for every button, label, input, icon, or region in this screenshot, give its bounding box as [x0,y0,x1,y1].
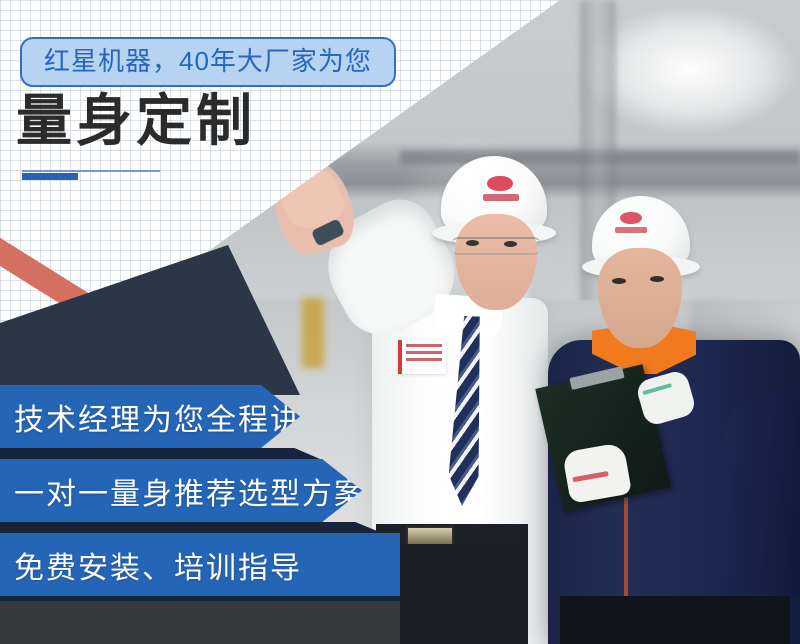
eye-right [504,241,517,247]
feature-bar-2: 一对一量身推荐选型方案 [0,459,362,522]
dark-trousers [560,596,790,644]
eye-right [650,276,664,282]
title-underline-thick [22,173,78,180]
hongxing-wordmark [615,227,647,233]
jacket-arm [713,389,800,595]
title-underline-thin [22,170,160,172]
hongxing-wordmark [483,194,519,201]
feature-bar-shadow-2 [0,522,382,533]
feature-bar-1: 技术经理为您全程讲解 [0,385,300,448]
eye-left [612,278,626,284]
eye-left [466,240,479,246]
dark-trousers [378,544,528,644]
feature-bar-label-2: 一对一量身推荐选型方案 [0,469,366,513]
tagline-pill: 红星机器，40年大厂家为您 [20,37,396,87]
page-title: 量身定制 [16,93,256,149]
feature-bar-shadow-1 [0,448,320,459]
yellow-equipment [302,298,324,368]
eyeglasses-icon [452,237,540,255]
id-badge [398,340,446,374]
promo-banner: 红星机器，40年大厂家为您 量身定制 技术经理为您全程讲解 一对一量身推荐选型方… [0,0,800,644]
feature-bar-3: 免费安装、培训指导 [0,533,400,596]
footer-strip [0,601,400,644]
hongxing-logo-icon [620,212,642,224]
hongxing-logo-icon [487,176,513,191]
white-glove-lower [562,442,632,504]
feature-bar-label-3: 免费安装、培训指导 [0,543,302,587]
